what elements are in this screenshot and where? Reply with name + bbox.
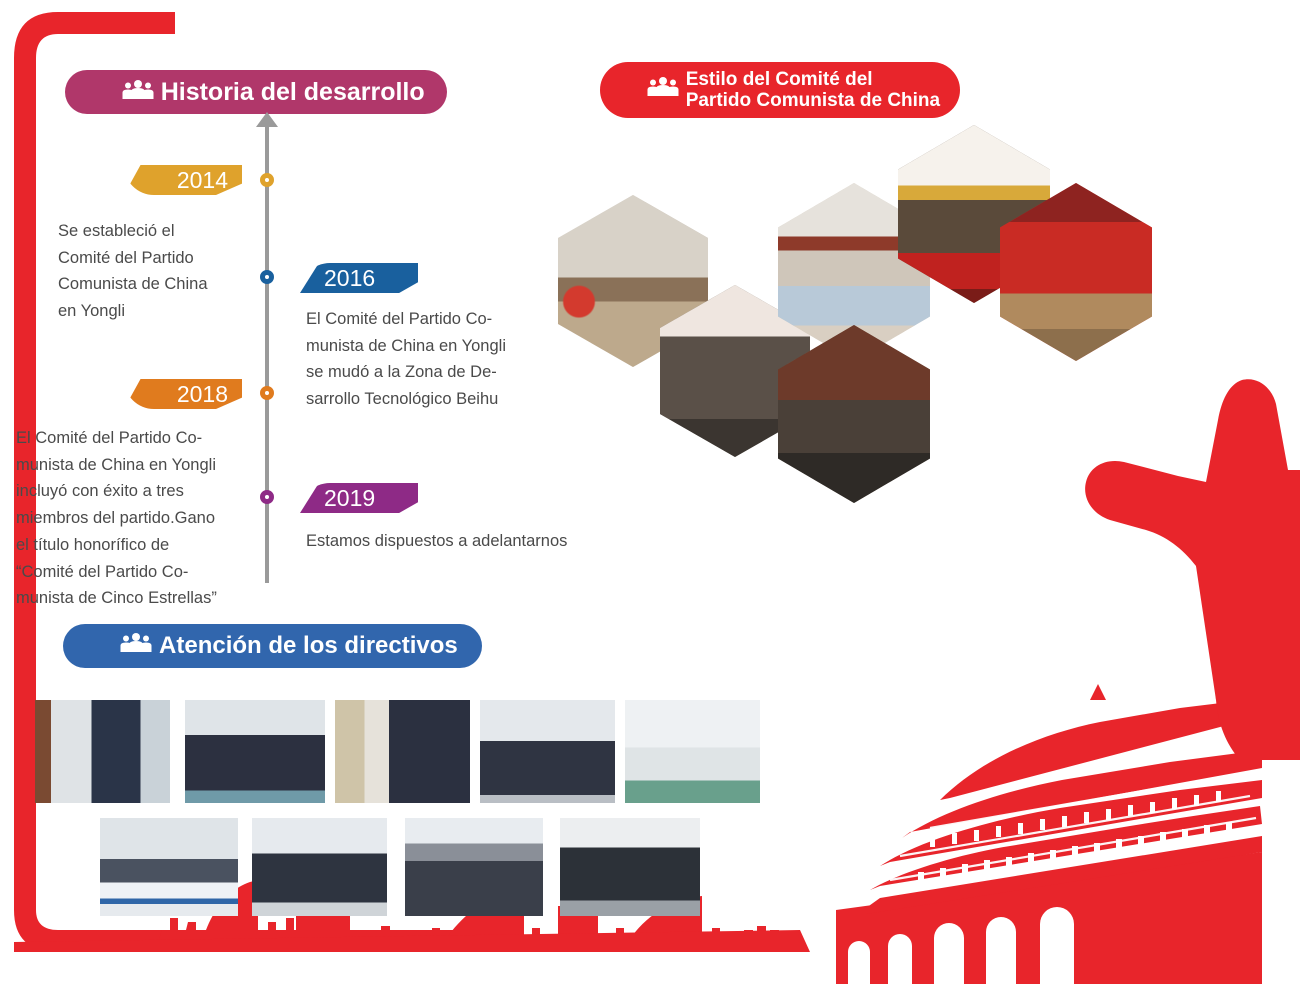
photo-image: [252, 818, 387, 916]
gate-arches: [848, 907, 1074, 984]
leader-photo-3: [335, 700, 470, 803]
section-badge-style-line2: Partido Comunista de China: [686, 90, 940, 111]
leaders-photo-row-1: [35, 700, 765, 805]
hex-photo-collage: [540, 125, 1200, 485]
timeline-dot-2014: [260, 173, 274, 187]
timeline-dot-2016: [260, 270, 274, 284]
section-badge-style-label: Estilo del Comité delPartido Comunista d…: [686, 69, 940, 112]
leader-photo-7: [252, 818, 387, 916]
timeline-text-2018: El Comité del Partido Co- munista de Chi…: [16, 425, 274, 612]
photo-image: [480, 700, 615, 803]
timeline-dot-2018: [260, 386, 274, 400]
leader-photo-9: [560, 818, 700, 916]
leader-photo-2: [185, 700, 325, 803]
leader-photo-5: [625, 700, 760, 803]
leader-photo-8: [405, 818, 543, 916]
timeline-year-2014: 2014: [124, 165, 242, 195]
section-badge-history: Historia del desarrollo: [65, 70, 447, 114]
photo-image: [560, 818, 700, 916]
photo-image: [625, 700, 760, 803]
timeline-text-2016: El Comité del Partido Co- munista de Chi…: [306, 306, 570, 413]
tiananmen-gate-silhouette: [836, 684, 1262, 984]
people-group-icon: [614, 54, 680, 126]
infographic-canvas: Historia del desarrollo Estilo del Comit…: [0, 0, 1300, 984]
leader-photo-6: [100, 818, 238, 916]
timeline-text-2019: Estamos dispuestos a adelantarnos: [306, 528, 666, 555]
section-badge-leaders-label: Atención de los directivos: [159, 633, 458, 660]
timeline-year-2016: 2016: [300, 263, 418, 293]
photo-image: [335, 700, 470, 803]
section-badge-style: Estilo del Comité delPartido Comunista d…: [600, 62, 960, 118]
people-group-icon: [79, 49, 155, 136]
photo-image: [185, 700, 325, 803]
photo-image: [35, 700, 170, 803]
photo-image: [405, 818, 543, 916]
leader-photo-1: [35, 700, 170, 803]
section-badge-leaders: Atención de los directivos: [63, 624, 482, 668]
section-badge-style-line1: Estilo del Comité del: [686, 69, 873, 90]
leader-photo-4: [480, 700, 615, 803]
section-badge-history-label: Historia del desarrollo: [161, 78, 425, 106]
timeline-text-2014: Se estableció el Comité del Partido Comu…: [58, 218, 258, 325]
people-group-icon: [79, 604, 153, 688]
photo-image: [100, 818, 238, 916]
leaders-photo-row-2: [100, 818, 700, 918]
timeline-year-2018: 2018: [124, 379, 242, 409]
timeline-year-2019: 2019: [300, 483, 418, 513]
